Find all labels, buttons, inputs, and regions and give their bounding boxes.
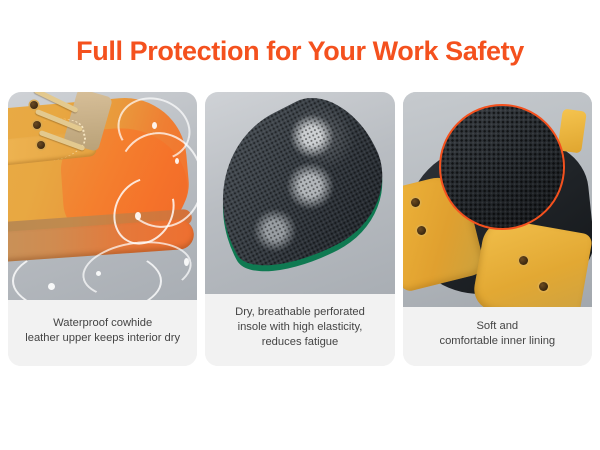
feature-caption-waterproof: Waterproof cowhide leather upper keeps i… (8, 300, 197, 366)
caption-line: Soft and (439, 319, 555, 334)
waterproof-boot-photo (8, 92, 197, 300)
caption-line: Waterproof cowhide (25, 316, 180, 331)
boot-eyelet (539, 282, 548, 291)
boot-eyelet (30, 101, 38, 109)
feature-caption-insole: Dry, breathable perforated insole with h… (205, 294, 394, 366)
feature-card-waterproof: Waterproof cowhide leather upper keeps i… (8, 92, 197, 366)
boot-eyelet (411, 198, 420, 207)
caption-line: Dry, breathable perforated (235, 305, 365, 320)
feature-caption-lining: Soft and comfortable inner lining (403, 307, 592, 366)
lining-illustration (403, 92, 592, 307)
boot-splash-illustration (8, 92, 197, 300)
caption-line: reduces fatigue (235, 335, 365, 350)
insole-highlight (275, 92, 368, 183)
lining-photo (403, 92, 592, 307)
boot-eyelet (417, 226, 426, 235)
mesh-zoom-circle (439, 104, 565, 230)
feature-card-lining: Soft and comfortable inner lining (403, 92, 592, 366)
feature-card-row: Waterproof cowhide leather upper keeps i… (8, 92, 592, 366)
caption-line: leather upper keeps interior dry (25, 331, 180, 346)
boot-eyelet (33, 121, 41, 129)
insole-illustration (205, 92, 394, 294)
caption-line: comfortable inner lining (439, 334, 555, 349)
water-droplet (48, 283, 55, 290)
insole-perforated-surface (205, 92, 394, 287)
caption-line: insole with high elasticity, (235, 320, 365, 335)
water-droplet (96, 271, 101, 276)
page-title: Full Protection for Your Work Safety (0, 36, 600, 67)
insole-photo (205, 92, 394, 294)
feature-card-insole: Dry, breathable perforated insole with h… (205, 92, 394, 366)
boot-eyelet (37, 141, 45, 149)
boot-eyelet (519, 256, 528, 265)
